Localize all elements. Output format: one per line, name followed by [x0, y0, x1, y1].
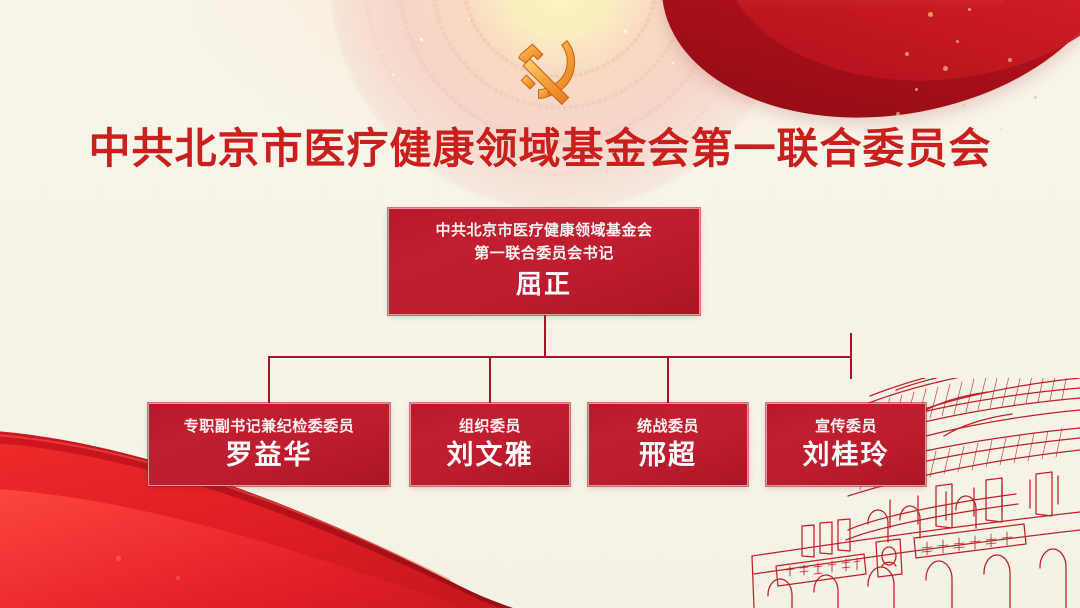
org-node-name: 刘文雅: [447, 439, 534, 473]
connector-end-stub: [850, 333, 852, 379]
connector-horizontal-bus: [268, 356, 852, 358]
poster-canvas: 中共北京市医疗健康领域基金会第一联合委员会 中共北京市医疗健康领域基金会 第一联…: [0, 0, 1080, 608]
org-chart: 中共北京市医疗健康领域基金会 第一联合委员会书记 屈正 专职副书记兼纪检委委员 …: [0, 0, 1080, 608]
org-node-name: 罗益华: [226, 439, 313, 473]
org-node-organization-member[interactable]: 组织委员 刘文雅: [410, 403, 570, 486]
connector-drop-3: [667, 356, 669, 403]
org-node-name: 屈正: [516, 269, 572, 301]
connector-drop-1: [268, 356, 270, 403]
org-node-role-line1: 中共北京市医疗健康领域基金会: [435, 219, 652, 242]
connector-drop-2: [489, 356, 491, 403]
org-node-name: 邢超: [639, 439, 697, 473]
org-node-deputy-secretary[interactable]: 专职副书记兼纪检委委员 罗益华: [148, 403, 390, 486]
org-node-role: 宣传委员: [815, 415, 877, 437]
org-node-name: 刘桂玲: [803, 439, 890, 473]
org-node-role: 专职副书记兼纪检委委员: [184, 415, 355, 437]
org-node-publicity-member[interactable]: 宣传委员 刘桂玲: [766, 403, 926, 486]
org-node-secretary[interactable]: 中共北京市医疗健康领域基金会 第一联合委员会书记 屈正: [388, 208, 700, 315]
connector-root-down: [544, 315, 546, 357]
org-node-united-front-member[interactable]: 统战委员 邢超: [588, 403, 748, 486]
org-node-role-line2: 第一联合委员会书记: [474, 242, 614, 265]
org-node-role: 组织委员: [459, 415, 521, 437]
org-node-role: 统战委员: [637, 415, 699, 437]
